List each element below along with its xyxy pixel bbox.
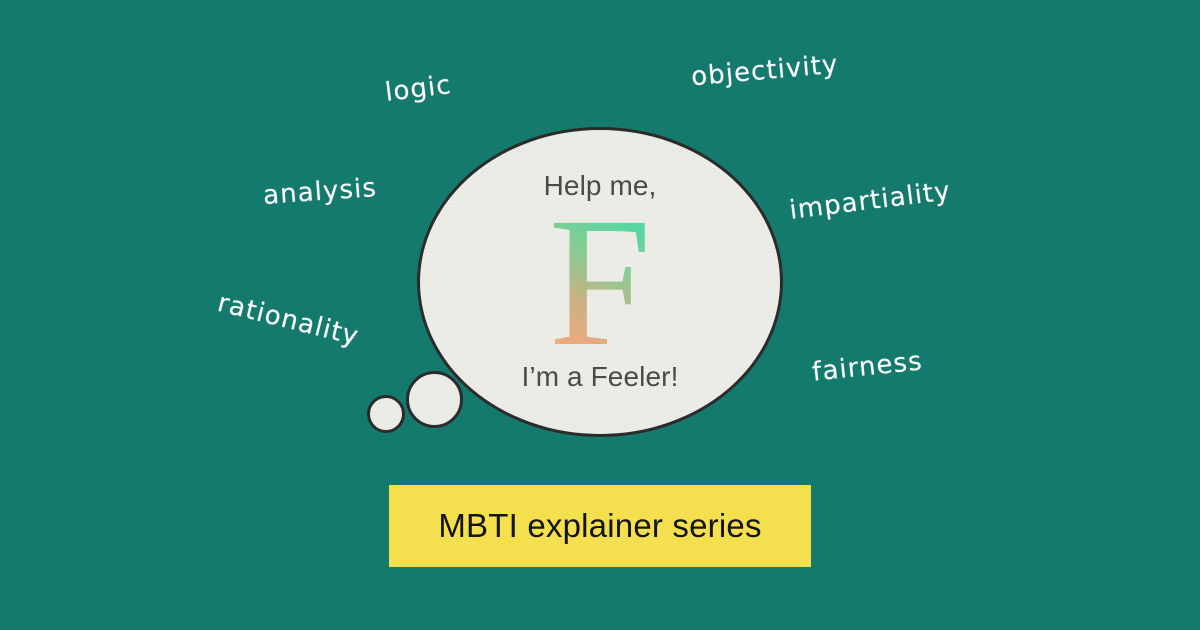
keyword-impartiality: impartiality bbox=[788, 176, 953, 226]
series-banner-label: MBTI explainer series bbox=[438, 507, 761, 545]
keyword-rationality: rationality bbox=[215, 288, 362, 352]
poster-canvas: logic objectivity analysis impartiality … bbox=[0, 0, 1200, 630]
keyword-fairness: fairness bbox=[811, 346, 924, 387]
keyword-logic: logic bbox=[383, 70, 453, 108]
thought-bubble-content: Help me, F I’m a Feeler! bbox=[420, 130, 780, 434]
keyword-objectivity: objectivity bbox=[690, 50, 840, 93]
mbti-type-letter: F bbox=[549, 190, 652, 375]
thought-bubble-small-circle bbox=[367, 395, 405, 433]
thought-bubble-main: Help me, F I’m a Feeler! bbox=[417, 127, 783, 437]
keyword-analysis: analysis bbox=[262, 173, 378, 211]
series-banner[interactable]: MBTI explainer series bbox=[389, 485, 811, 567]
bubble-line-bottom: I’m a Feeler! bbox=[522, 363, 679, 391]
